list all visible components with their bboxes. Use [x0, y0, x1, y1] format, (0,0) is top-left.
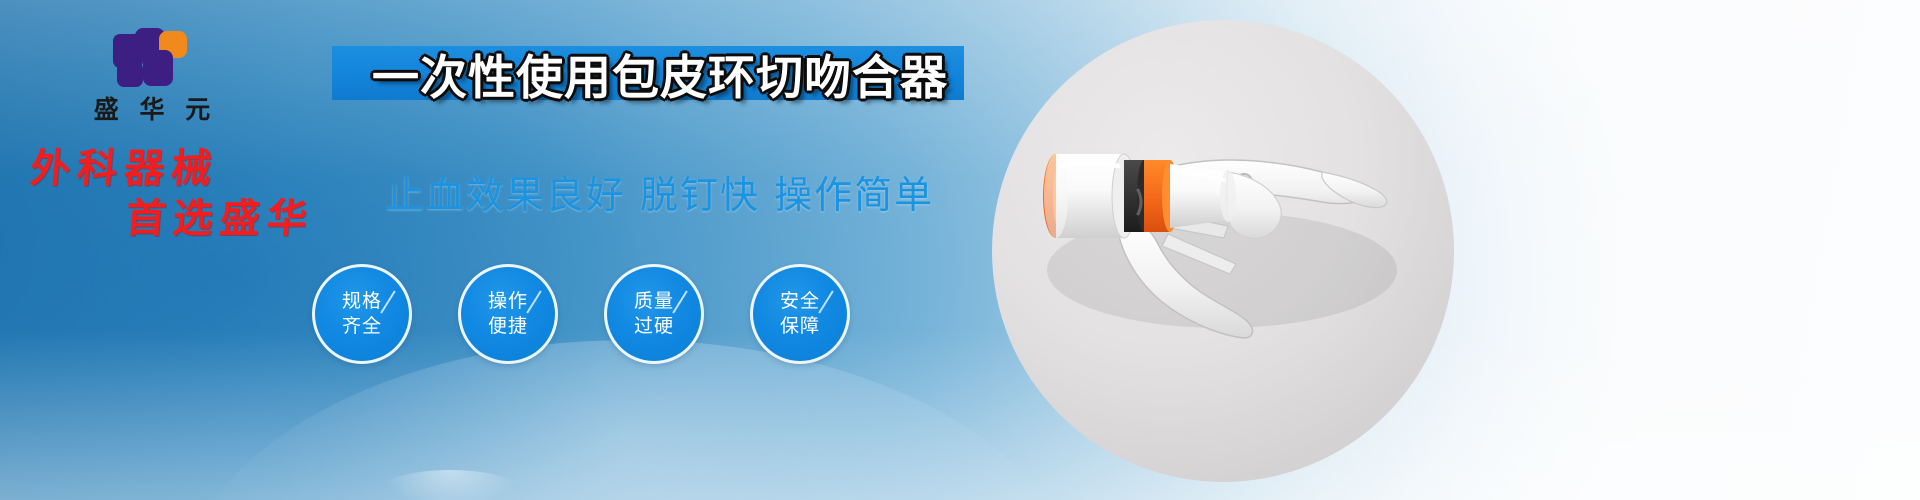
- slash-accent-icon: [672, 290, 687, 313]
- badge-label-line-1: 安全: [780, 289, 820, 314]
- slash-accent-icon: [380, 290, 395, 313]
- feature-badge-safety[interactable]: 安全 保障: [750, 264, 850, 364]
- logo-block-e-icon: [117, 62, 143, 87]
- badge-label-line-1: 操作: [488, 289, 528, 314]
- product-illustration-icon: [992, 20, 1454, 482]
- product-photo: [992, 20, 1454, 482]
- slash-accent-icon: [818, 290, 833, 313]
- calligraphy-line-2: 首选盛华: [14, 198, 348, 240]
- badge-label-line-2: 便捷: [488, 314, 528, 339]
- feature-badge-operation[interactable]: 操作 便捷: [458, 264, 558, 364]
- slash-accent-icon: [526, 290, 541, 313]
- badge-label-line-2: 保障: [780, 314, 820, 339]
- promo-banner: 盛 华 元 外科器械 首选盛华 一次性使用包皮环切吻合器 止血效果良好 脱钉快 …: [0, 0, 1920, 500]
- product-subtitle: 止血效果良好 脱钉快 操作简单: [340, 164, 980, 219]
- logo-block-d-icon: [143, 50, 173, 86]
- badge-label-line-1: 规格: [342, 289, 382, 314]
- feature-badge-list: 规格 齐全 操作 便捷 质量 过硬 安全 保障: [312, 264, 872, 362]
- badge-label-line-1: 质量: [634, 289, 674, 314]
- calligraphy-line-1: 外科器械: [18, 148, 352, 190]
- company-name-text: 盛 华 元: [62, 96, 242, 124]
- calligraphy-slogan: 外科器械 首选盛华: [14, 148, 352, 240]
- company-logo: 盛 华 元: [62, 28, 242, 124]
- badge-label-line-2: 过硬: [634, 314, 674, 339]
- feature-badge-spec[interactable]: 规格 齐全: [312, 264, 412, 364]
- feature-badge-quality[interactable]: 质量 过硬: [604, 264, 704, 364]
- badge-label-line-2: 齐全: [342, 314, 382, 339]
- logo-mark-icon: [113, 28, 191, 90]
- product-title: 一次性使用包皮环切吻合器: [340, 40, 980, 106]
